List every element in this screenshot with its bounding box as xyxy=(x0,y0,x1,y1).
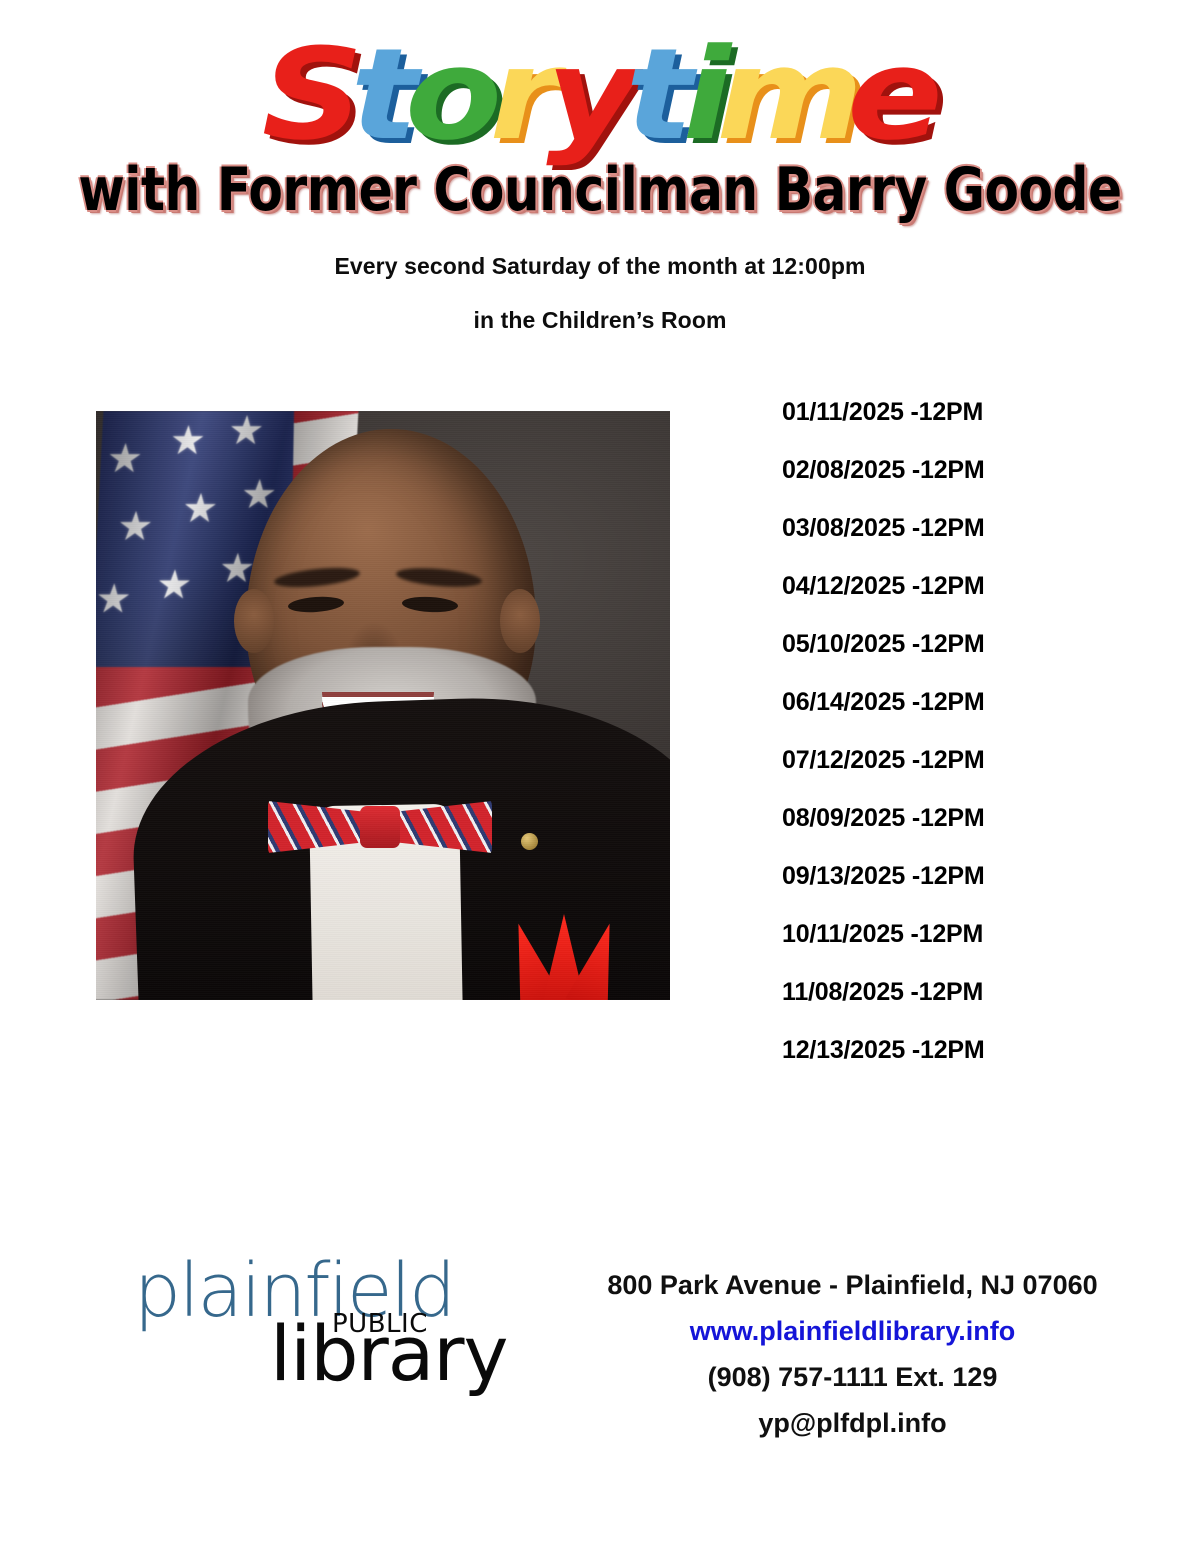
portrait-lapel-pin xyxy=(521,833,538,850)
schedule-dates-list: 01/11/2025 -12PM 02/08/2025 -12PM 03/08/… xyxy=(782,397,1102,1093)
contact-email[interactable]: yp@plfdpl.info xyxy=(580,1400,1125,1446)
list-item: 06/14/2025 -12PM xyxy=(782,687,1102,745)
event-detail-location-line: in the Children’s Room xyxy=(0,307,1200,334)
list-item: 05/10/2025 -12PM xyxy=(782,629,1102,687)
list-item: 10/11/2025 -12PM xyxy=(782,919,1102,977)
logo-letter-t2: t xyxy=(625,32,688,157)
portrait-photo: ★ ★ ★ ★ ★ ★ ★ ★ ★ xyxy=(96,411,670,1000)
contact-phone: (908) 757-1111 Ext. 129 xyxy=(580,1354,1125,1400)
portrait-bow-tie xyxy=(268,792,492,862)
list-item: 11/08/2025 -12PM xyxy=(782,977,1102,1035)
contact-address: 800 Park Avenue - Plainfield, NJ 07060 xyxy=(580,1262,1125,1308)
bow-tie-wing-left xyxy=(268,796,368,858)
list-item: 08/09/2025 -12PM xyxy=(782,803,1102,861)
logo-letter-r: r xyxy=(489,32,554,157)
logo-letter-m: m xyxy=(717,32,860,157)
list-item: 01/11/2025 -12PM xyxy=(782,397,1102,455)
portrait-pocket-square xyxy=(506,910,626,1000)
list-item: 03/08/2025 -12PM xyxy=(782,513,1102,571)
plainfield-public-library-logo: plainfield library PUBLIC xyxy=(130,1253,550,1378)
contact-website-link[interactable]: www.plainfieldlibrary.info xyxy=(580,1308,1125,1354)
logo-letter-e: e xyxy=(847,32,938,157)
list-item: 09/13/2025 -12PM xyxy=(782,861,1102,919)
list-item: 07/12/2025 -12PM xyxy=(782,745,1102,803)
pocket-square-fold xyxy=(565,918,630,1000)
logo-word-public: PUBLIC xyxy=(332,1311,428,1337)
logo-letter-o: o xyxy=(405,32,497,157)
bow-tie-wing-right xyxy=(392,796,492,858)
logo-letter-y: y xyxy=(546,32,634,157)
storytime-logo: Storytime xyxy=(0,32,1200,157)
portrait-ear-left xyxy=(234,589,274,653)
list-item: 02/08/2025 -12PM xyxy=(782,455,1102,513)
headline-subtitle: with Former Councilman Barry Goode xyxy=(42,158,1158,222)
event-detail-schedule-line: Every second Saturday of the month at 12… xyxy=(0,253,1200,280)
contact-information: 800 Park Avenue - Plainfield, NJ 07060 w… xyxy=(580,1262,1125,1446)
logo-letter-s: S xyxy=(262,32,359,157)
portrait-ear-right xyxy=(500,589,540,653)
list-item: 12/13/2025 -12PM xyxy=(782,1035,1102,1093)
list-item: 04/12/2025 -12PM xyxy=(782,571,1102,629)
bow-tie-knot xyxy=(360,806,400,848)
logo-letter-t1: t xyxy=(350,32,413,157)
